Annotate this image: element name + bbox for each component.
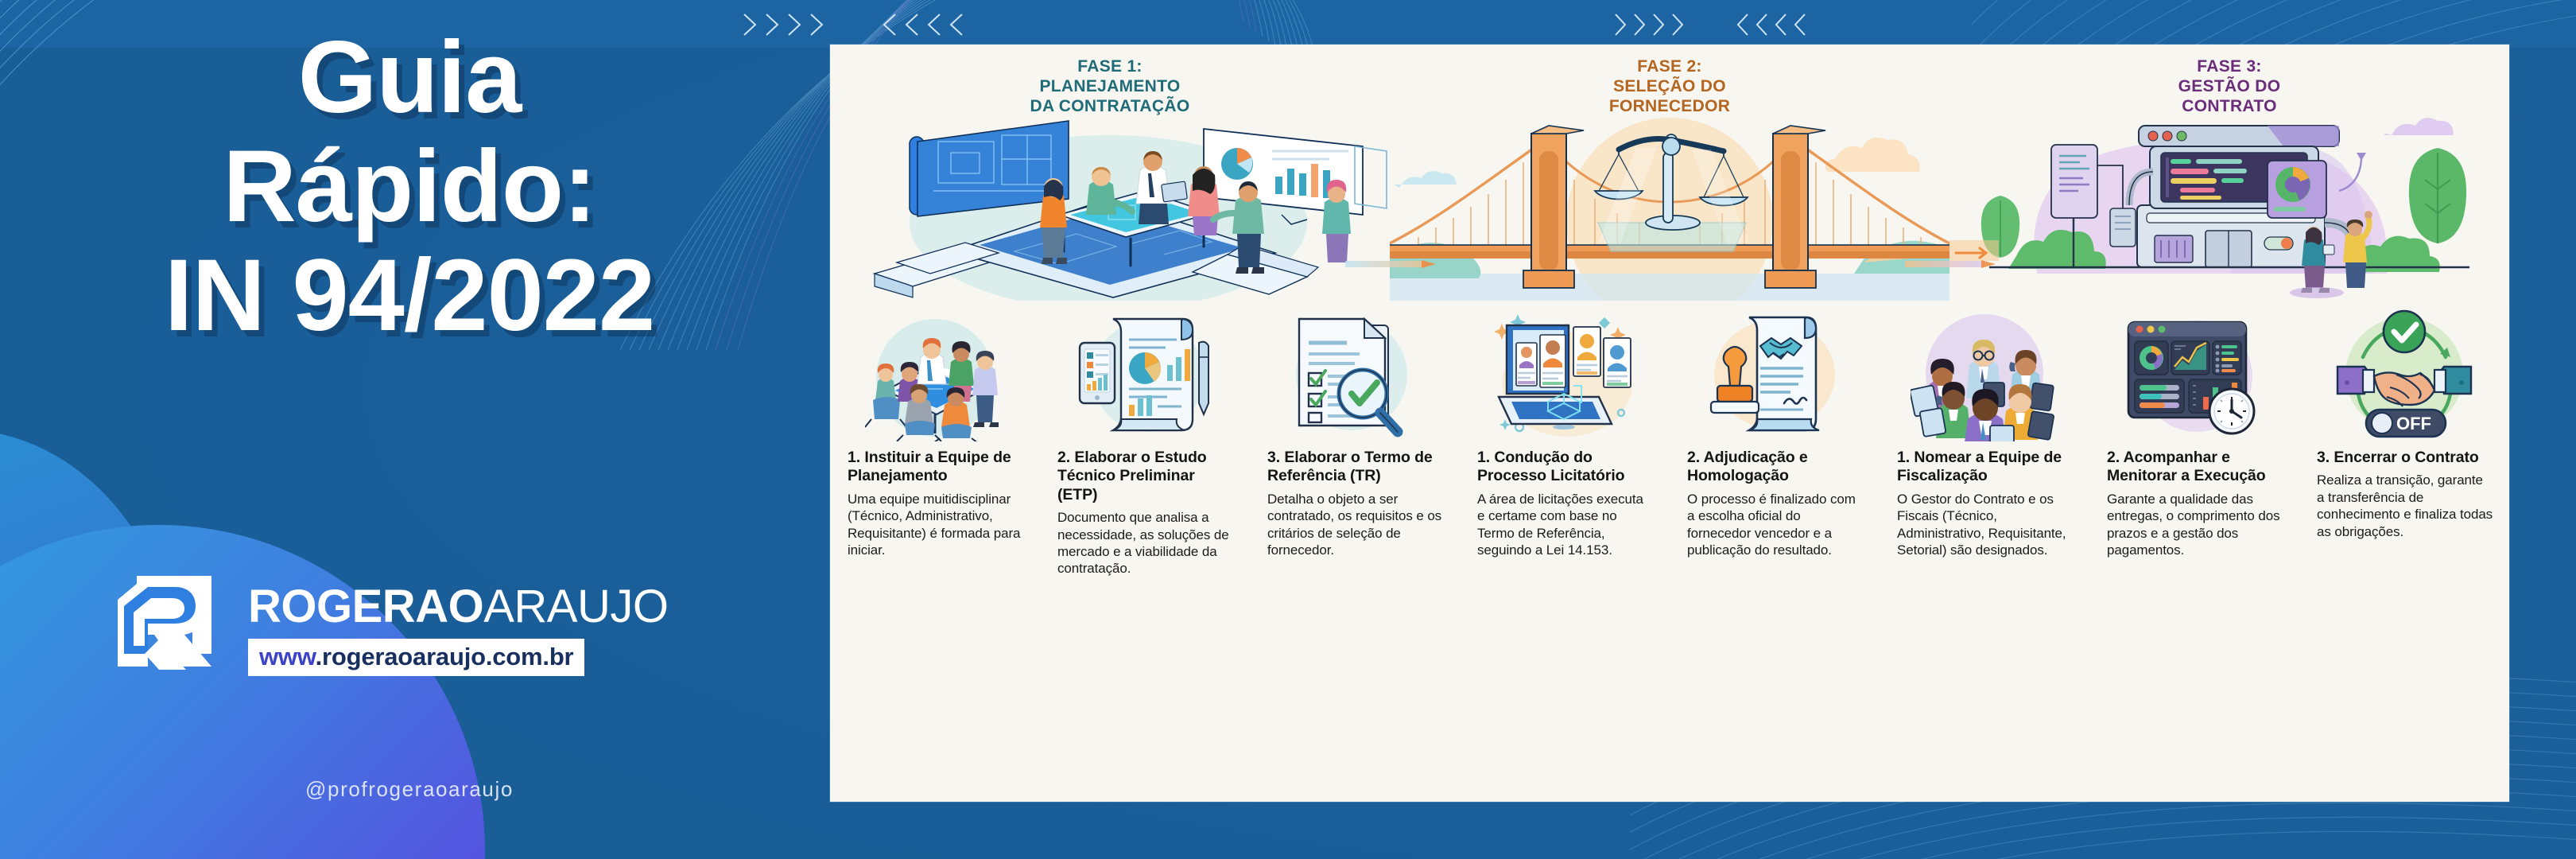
step-card-1: 1. Instituir a Equipe de Planejamento Um… bbox=[830, 449, 1040, 719]
chevrons-left-icon bbox=[1733, 11, 1821, 38]
step-card-2: 2. Elaborar o Estudo Técnico Preliminar … bbox=[1040, 449, 1250, 719]
flow-arrow-2-to-3 bbox=[1905, 259, 2000, 269]
flow-arrow-1-to-2 bbox=[1345, 259, 1441, 269]
phase-1-name-line1: PLANEJAMENTO bbox=[830, 77, 1390, 97]
brand-name: ROGERAOARAUJO bbox=[248, 584, 668, 630]
brand-name-bold: ROGERAO bbox=[248, 581, 483, 632]
step-8-body: Realiza a transição, garante a transferê… bbox=[2317, 472, 2493, 540]
step-card-6: 1. Nomear a Equipe de Fiscalização O Ges… bbox=[1880, 449, 2089, 719]
checklist-magnifier-check-icon bbox=[1250, 301, 1460, 449]
r-monogram-logo-icon bbox=[110, 571, 226, 698]
bridge-with-justice-scales-scene bbox=[1390, 103, 1949, 301]
step-2-title: 2. Elaborar o Estudo Técnico Preliminar … bbox=[1057, 449, 1234, 504]
step-3-body: Detalha o objeto a ser contratado, os re… bbox=[1267, 491, 1444, 559]
step-card-4: 1. Condução do Processo Licitatório A ár… bbox=[1460, 449, 1670, 719]
infographic-panel: FASE 1: PLANEJAMENTO DA CONTRATAÇÃO FASE… bbox=[830, 45, 2509, 802]
step-card-7: 2. Acompanhar e Menitorar a Execução Gar… bbox=[2089, 449, 2299, 719]
step-3-title: 3. Elaborar o Termo de Referência (TR) bbox=[1267, 449, 1444, 486]
step-1-body: Uma equipe muitidisciplinar (Técnico, Ad… bbox=[848, 491, 1024, 559]
step-card-5: 2. Adjudicação e Homologação O processo … bbox=[1670, 449, 1880, 719]
website-url[interactable]: www.rogeraoaraujo.com.br bbox=[248, 639, 584, 676]
title-line-3: IN 94/2022 bbox=[0, 242, 819, 351]
social-handle: @profrogeraoaraujo bbox=[0, 777, 819, 802]
step-5-body: O processo é finalizado com a escolha of… bbox=[1687, 491, 1864, 559]
team-meeting-table-icon bbox=[830, 301, 1040, 449]
title-line-1: Guia bbox=[0, 24, 819, 133]
page-title: Guia Rápido: IN 94/2022 bbox=[0, 24, 819, 351]
phase-2-label: FASE 2: bbox=[1390, 57, 1949, 77]
phase-scene-row bbox=[830, 103, 2509, 301]
url-rest: .rogeraoaraujo.com.br bbox=[316, 643, 574, 670]
step-5-title: 2. Adjudicação e Homologação bbox=[1687, 449, 1864, 486]
laptop-bidder-profiles-icon bbox=[1460, 301, 1670, 449]
handshake-checkmark-off-toggle-icon: OFF bbox=[2299, 301, 2509, 449]
step-6-body: O Gestor do Contrato e os Fiscais (Técni… bbox=[1897, 491, 2074, 559]
phase-1-label: FASE 1: bbox=[830, 57, 1390, 77]
chevrons-left-icon bbox=[879, 11, 983, 38]
off-toggle-label: OFF bbox=[2396, 414, 2431, 433]
stamp-signed-contract-icon bbox=[1670, 301, 1880, 449]
brand-name-thin: ARAUJO bbox=[483, 581, 668, 632]
step-1-title: 1. Instituir a Equipe de Planejamento bbox=[848, 449, 1024, 486]
phase-header-1: FASE 1: PLANEJAMENTO DA CONTRATAÇÃO bbox=[830, 45, 1390, 103]
step-4-title: 1. Condução do Processo Licitatório bbox=[1477, 449, 1654, 486]
step-icon-row: OFF bbox=[830, 301, 2509, 449]
step-6-title: 1. Nomear a Equipe de Fiscalização bbox=[1897, 449, 2074, 486]
step-2-body: Documento que analisa a necessidade, as … bbox=[1057, 509, 1234, 577]
title-panel: Guia Rápido: IN 94/2022 ROGERAOARAUJO ww… bbox=[0, 0, 819, 859]
url-prefix: www bbox=[259, 643, 316, 670]
step-7-title: 2. Acompanhar e Menitorar a Execução bbox=[2107, 449, 2283, 486]
step-card-row: 1. Instituir a Equipe de Planejamento Um… bbox=[830, 449, 2509, 719]
step-4-body: A área de licitações executa e certame c… bbox=[1477, 491, 1654, 559]
phase-header-row: FASE 1: PLANEJAMENTO DA CONTRATAÇÃO FASE… bbox=[830, 45, 2509, 103]
phase-header-2: FASE 2: SELEÇÃO DO FORNECEDOR bbox=[1390, 45, 1949, 103]
document-charts-tablet-pen-icon bbox=[1040, 301, 1250, 449]
planning-meeting-isometric-scene bbox=[830, 103, 1390, 301]
phase-3-label: FASE 3: bbox=[1949, 57, 2509, 77]
step-8-title: 3. Encerrar o Contrato bbox=[2317, 449, 2493, 467]
phase-3-name-line1: GESTÃO DO bbox=[1949, 77, 2509, 97]
phase-header-3: FASE 3: GESTÃO DO CONTRATO bbox=[1949, 45, 2509, 103]
step-7-body: Garante a qualidade das entregas, o comp… bbox=[2107, 491, 2283, 559]
phase-2-name-line1: SELEÇÃO DO bbox=[1390, 77, 1949, 97]
contract-management-dashboard-scene bbox=[1949, 103, 2509, 301]
step-card-8: 3. Encerrar o Contrato Realiza a transiç… bbox=[2299, 449, 2509, 719]
step-card-3: 3. Elaborar o Termo de Referência (TR) D… bbox=[1250, 449, 1460, 719]
title-line-2: Rápido: bbox=[0, 133, 819, 242]
brand-lockup: ROGERAOARAUJO www.rogeraoaraujo.com.br bbox=[110, 571, 793, 706]
chevrons-right-icon bbox=[1611, 11, 1698, 38]
analytics-dashboard-clock-icon bbox=[2089, 301, 2299, 449]
inspection-team-group-icon bbox=[1880, 301, 2089, 449]
